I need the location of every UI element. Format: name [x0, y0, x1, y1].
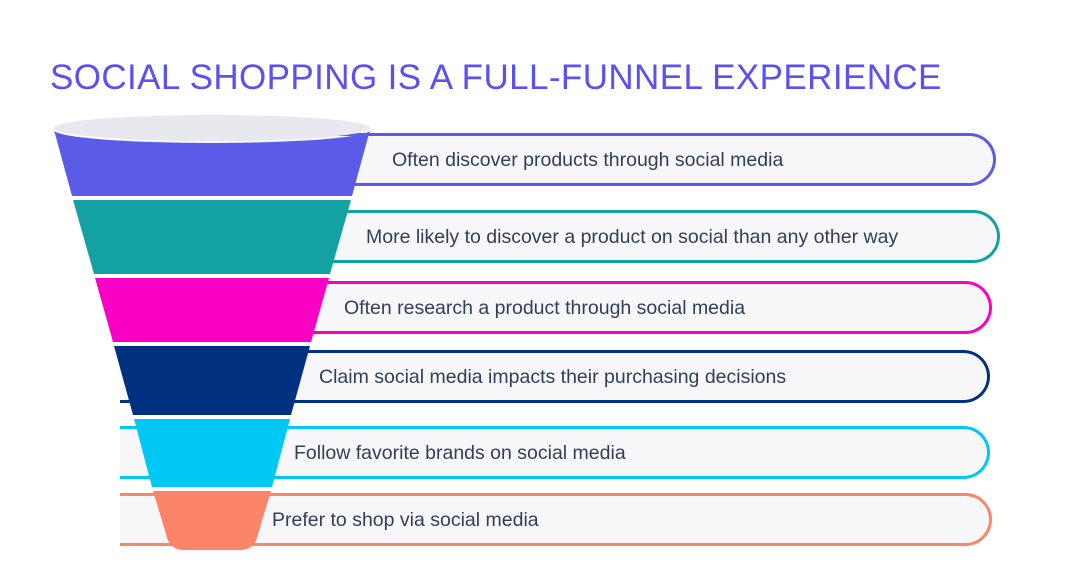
funnel-stage-label: Claim social media impacts their purchas… — [319, 365, 786, 389]
funnel-stage-row[interactable]: Often research a product through social … — [120, 281, 992, 334]
funnel-stage-row[interactable]: More likely to discover a product on soc… — [120, 210, 1000, 263]
funnel-stage-label: More likely to discover a product on soc… — [366, 225, 898, 249]
funnel-chart: Often discover products through social m… — [0, 0, 1089, 580]
funnel-stage-row[interactable]: Prefer to shop via social media — [120, 493, 992, 546]
funnel-stage-label: Often discover products through social m… — [392, 148, 783, 172]
funnel-stage-label: Often research a product through social … — [344, 296, 745, 320]
funnel-stage-label: Prefer to shop via social media — [272, 508, 539, 532]
funnel-stage-label: Follow favorite brands on social media — [294, 441, 626, 465]
funnel-stage-row[interactable]: Often discover products through social m… — [120, 133, 996, 186]
funnel-stage-row[interactable]: Claim social media impacts their purchas… — [120, 350, 990, 403]
funnel-stage-row[interactable]: Follow favorite brands on social media — [120, 426, 990, 479]
funnel-label-list: Often discover products through social m… — [0, 0, 1089, 580]
